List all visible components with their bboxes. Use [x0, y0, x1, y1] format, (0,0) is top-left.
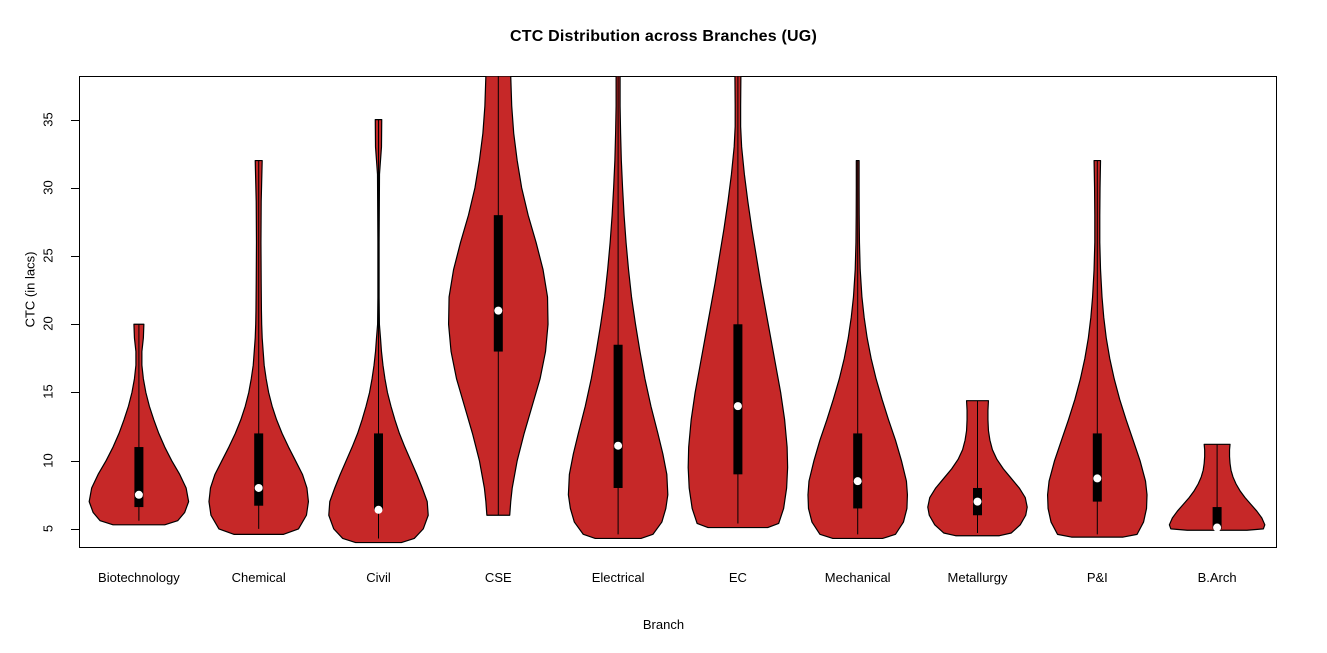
- y-tick-mark: [71, 392, 79, 393]
- y-tick-mark: [71, 120, 79, 121]
- x-tick-label-ec: EC: [729, 570, 747, 585]
- median-marker: [255, 484, 263, 492]
- violin-mechanical: [808, 161, 907, 539]
- iqr-box: [614, 345, 623, 488]
- y-tick-mark: [71, 256, 79, 257]
- x-tick-label-chemical: Chemical: [232, 570, 286, 585]
- x-axis-title: Branch: [0, 617, 1327, 632]
- iqr-box: [853, 433, 862, 508]
- median-marker: [854, 477, 862, 485]
- iqr-box: [733, 324, 742, 474]
- iqr-box: [254, 433, 263, 505]
- violin-chemical: [209, 161, 308, 535]
- x-tick-label-b-arch: B.Arch: [1198, 570, 1237, 585]
- y-tick-label: 20: [41, 304, 56, 344]
- violin-biotechnology: [89, 324, 188, 525]
- violin-electrical: [568, 76, 667, 538]
- median-marker: [494, 307, 502, 315]
- x-tick-label-metallurgy: Metallurgy: [948, 570, 1008, 585]
- violin-ec: [688, 76, 787, 528]
- y-tick-label: 5: [41, 508, 56, 548]
- iqr-box: [494, 215, 503, 351]
- median-marker: [614, 442, 622, 450]
- plot-area: [79, 76, 1277, 548]
- median-marker: [734, 402, 742, 410]
- x-tick-label-civil: Civil: [366, 570, 391, 585]
- x-tick-label-biotechnology: Biotechnology: [98, 570, 180, 585]
- violin-plot-page: CTC Distribution across Branches (UG) CT…: [0, 0, 1327, 653]
- x-tick-label-mechanical: Mechanical: [825, 570, 891, 585]
- x-tick-label-electrical: Electrical: [592, 570, 645, 585]
- page-title: CTC Distribution across Branches (UG): [0, 28, 1327, 46]
- y-tick-label: 25: [41, 236, 56, 276]
- y-tick-label: 35: [41, 99, 56, 139]
- median-marker: [974, 498, 982, 506]
- x-tick-label-p-i: P&I: [1087, 570, 1108, 585]
- y-tick-mark: [71, 324, 79, 325]
- median-marker: [1213, 524, 1221, 532]
- median-marker: [375, 506, 383, 514]
- y-axis-title: CTC (in lacs): [23, 230, 38, 350]
- violin-p-i: [1048, 161, 1147, 538]
- y-tick-label: 10: [41, 440, 56, 480]
- violin-civil: [329, 120, 428, 543]
- y-tick-label: 15: [41, 372, 56, 412]
- y-tick-mark: [71, 461, 79, 462]
- y-tick-mark: [71, 529, 79, 530]
- median-marker: [1093, 474, 1101, 482]
- violin-metallurgy: [928, 401, 1027, 536]
- violin-b-arch: [1169, 444, 1264, 531]
- iqr-box: [374, 433, 383, 509]
- y-tick-mark: [71, 188, 79, 189]
- violin-cse: [449, 76, 548, 515]
- y-tick-label: 30: [41, 167, 56, 207]
- iqr-box: [1093, 433, 1102, 501]
- median-marker: [135, 491, 143, 499]
- x-tick-label-cse: CSE: [485, 570, 512, 585]
